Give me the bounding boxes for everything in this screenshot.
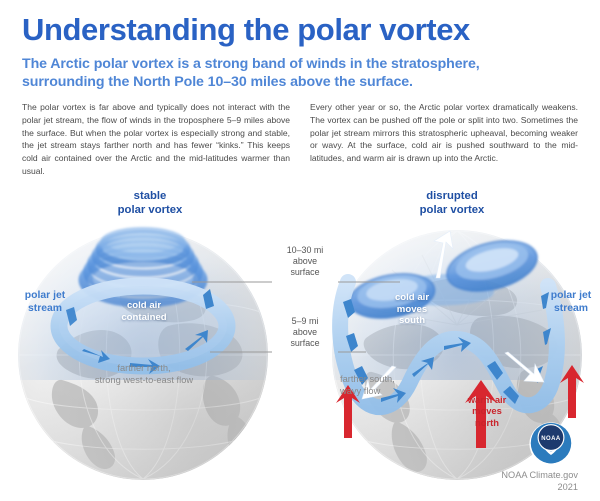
altitude-lower-line-2: above bbox=[273, 327, 337, 338]
jet-stream-label-left: polar jet stream bbox=[6, 290, 84, 315]
altitude-label-troposphere: 5–9 mi above surface bbox=[273, 316, 337, 349]
diagram-stage: stable polar vortex disrupted polar vort… bbox=[0, 186, 600, 501]
jet-stream-label-left-line-2: stream bbox=[6, 303, 84, 316]
globe-stable bbox=[18, 230, 268, 480]
cold-air-moves-south-line-1: cold air bbox=[372, 292, 452, 304]
credit-line-2: 2021 bbox=[420, 482, 578, 494]
warm-air-line-3: north bbox=[452, 417, 522, 428]
cold-air-contained-line-1: cold air bbox=[96, 300, 192, 312]
cold-air-contained-line-2: contained bbox=[96, 312, 192, 324]
altitude-lower-line-3: surface bbox=[273, 338, 337, 349]
panel-title-disrupted: disrupted polar vortex bbox=[352, 190, 552, 217]
jet-stream-label-left-line-1: polar jet bbox=[6, 290, 84, 303]
jet-stream-label-right-line-1: polar jet bbox=[542, 290, 600, 303]
noaa-logo-text: NOAA bbox=[541, 436, 561, 442]
panel-title-disrupted-line-1: disrupted bbox=[352, 190, 552, 204]
body-paragraph-left: The polar vortex is far above and typica… bbox=[22, 101, 290, 178]
warm-air-label: warm air moves north bbox=[452, 394, 522, 428]
subtitle-line-2: surrounding the North Pole 10–30 miles a… bbox=[22, 73, 578, 91]
page-subtitle: The Arctic polar vortex is a strong band… bbox=[22, 55, 578, 91]
altitude-upper-line-3: surface bbox=[273, 267, 337, 278]
warm-air-line-2: moves bbox=[452, 405, 522, 416]
jet-stream-label-right-line-2: stream bbox=[542, 303, 600, 316]
flow-note-right-line-1: farther south, bbox=[340, 374, 436, 386]
page-title: Understanding the polar vortex bbox=[22, 14, 578, 46]
altitude-upper-line-1: 10–30 mi bbox=[273, 245, 337, 256]
noaa-logo: NOAA bbox=[528, 421, 574, 467]
header: Understanding the polar vortex The Arcti… bbox=[0, 0, 600, 91]
altitude-label-stratosphere: 10–30 mi above surface bbox=[273, 245, 337, 278]
altitude-upper-line-2: above bbox=[273, 256, 337, 267]
panel-title-stable: stable polar vortex bbox=[50, 190, 250, 217]
panel-title-stable-line-1: stable bbox=[50, 190, 250, 204]
infographic-page: Understanding the polar vortex The Arcti… bbox=[0, 0, 600, 501]
globe-sheen-left bbox=[18, 230, 268, 480]
cold-air-moves-south-line-2: moves bbox=[372, 304, 452, 316]
panel-title-disrupted-line-2: polar vortex bbox=[352, 204, 552, 218]
cold-air-moves-south-line-3: south bbox=[372, 315, 452, 327]
flow-note-right: farther south, wavy flow bbox=[340, 374, 436, 397]
body-columns: The polar vortex is far above and typica… bbox=[22, 101, 578, 178]
jet-stream-label-right: polar jet stream bbox=[542, 290, 600, 315]
credit-block: NOAA Climate.gov 2021 bbox=[420, 470, 578, 494]
flow-note-right-line-2: wavy flow bbox=[340, 386, 436, 398]
altitude-lower-line-1: 5–9 mi bbox=[273, 316, 337, 327]
warm-air-line-1: warm air bbox=[452, 394, 522, 405]
flow-note-left: farther north, strong west-to-east flow bbox=[58, 363, 230, 386]
cold-air-moves-south-label: cold air moves south bbox=[372, 292, 452, 327]
panel-title-stable-line-2: polar vortex bbox=[50, 204, 250, 218]
body-paragraph-right: Every other year or so, the Arctic polar… bbox=[310, 101, 578, 178]
flow-note-left-line-1: farther north, bbox=[58, 363, 230, 375]
flow-note-left-line-2: strong west-to-east flow bbox=[58, 375, 230, 387]
cold-air-contained-label: cold air contained bbox=[96, 300, 192, 323]
credit-line-1: NOAA Climate.gov bbox=[420, 470, 578, 482]
subtitle-line-1: The Arctic polar vortex is a strong band… bbox=[22, 55, 578, 73]
